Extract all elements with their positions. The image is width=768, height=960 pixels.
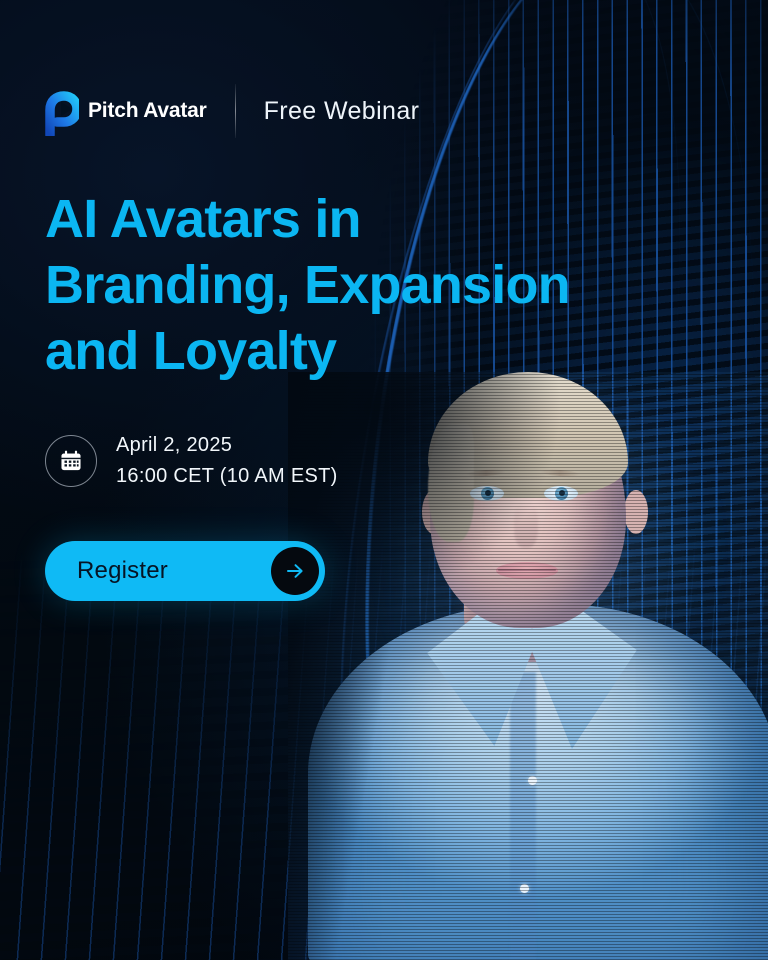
register-button[interactable]: Register <box>45 541 325 601</box>
poster-content: Pitch Avatar Free Webinar AI Avatars in … <box>0 0 768 960</box>
event-date: April 2, 2025 <box>116 430 338 461</box>
webinar-promo-poster: Pitch Avatar Free Webinar AI Avatars in … <box>0 0 768 960</box>
brand-wordmark: Pitch Avatar <box>88 100 207 122</box>
calendar-icon <box>45 435 97 487</box>
brand-header: Pitch Avatar Free Webinar <box>45 84 419 138</box>
event-datetime-text: April 2, 2025 16:00 CET (10 AM EST) <box>116 430 338 492</box>
headline-line-3: and Loyalty <box>45 318 645 384</box>
brand-divider <box>235 84 236 138</box>
arrow-right-icon <box>271 547 319 595</box>
brand-name-line2: Avatar <box>143 99 206 122</box>
webinar-kicker-label: Free Webinar <box>264 97 420 126</box>
headline-line-2: Branding, Expansion <box>45 252 645 318</box>
brand-name-line1: Pitch <box>88 99 138 122</box>
event-datetime: April 2, 2025 16:00 CET (10 AM EST) <box>45 430 338 492</box>
register-button-label: Register <box>77 557 168 585</box>
event-time: 16:00 CET (10 AM EST) <box>116 461 338 492</box>
page-title: AI Avatars in Branding, Expansion and Lo… <box>45 186 645 384</box>
headline-line-1: AI Avatars in <box>45 186 645 252</box>
pitch-avatar-play-logo-icon <box>45 86 79 136</box>
